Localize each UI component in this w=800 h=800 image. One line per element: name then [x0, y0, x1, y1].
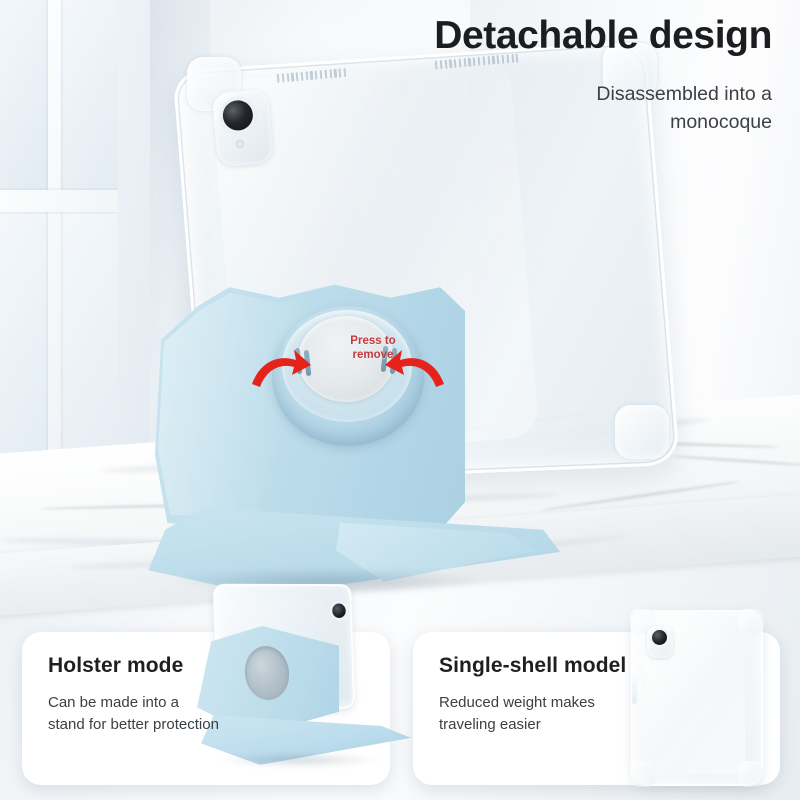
feature-card-list: Holster mode Can be made into a stand fo… [0, 600, 800, 800]
mini-camera-lens-icon [332, 603, 346, 618]
feature-description: Reduced weight makes traveling easier [439, 692, 595, 736]
mini-shell-button-slot [632, 670, 637, 704]
camera-cutout [212, 89, 274, 168]
feature-title: Single-shell model [439, 654, 626, 678]
mini-corner-bumper-bottom-left [630, 761, 656, 787]
page-subtitle: Disassembled into a monocoque [596, 80, 772, 136]
subtitle-line1: Disassembled into a [596, 83, 772, 105]
mini-stand-shadow [217, 752, 382, 768]
mini-shell-camera-lens-icon [652, 630, 667, 645]
feature-title: Holster mode [48, 654, 183, 678]
camera-lens-icon [222, 99, 255, 132]
mini-camera-cutout [647, 626, 673, 658]
camera-flash-icon [235, 139, 245, 149]
mini-corner-bumper-top-right [738, 609, 764, 635]
product-marketing-image: Press to remove Detachable design Disass… [0, 0, 800, 800]
feature-description-line1: Reduced weight makes [439, 694, 595, 711]
subtitle-line2: monocoque [670, 111, 772, 133]
clear-shell-illustration [631, 610, 763, 786]
feature-card-holster-mode[interactable]: Holster mode Can be made into a stand fo… [22, 632, 390, 785]
tablet-stand-illustration [197, 584, 412, 789]
page-title: Detachable design [434, 14, 772, 58]
feature-description: Can be made into a stand for better prot… [48, 692, 219, 736]
mini-corner-bumper-bottom-right [738, 761, 764, 787]
feature-card-single-shell[interactable]: Single-shell model Reduced weight makes … [413, 632, 780, 785]
feature-description-line2: stand for better protection [48, 716, 219, 733]
corner-bumper-bottom-right [615, 405, 669, 459]
rotating-disc-mechanism[interactable]: Press to remove [258, 298, 438, 458]
feature-description-line1: Can be made into a [48, 694, 179, 711]
feature-description-line2: traveling easier [439, 716, 541, 733]
